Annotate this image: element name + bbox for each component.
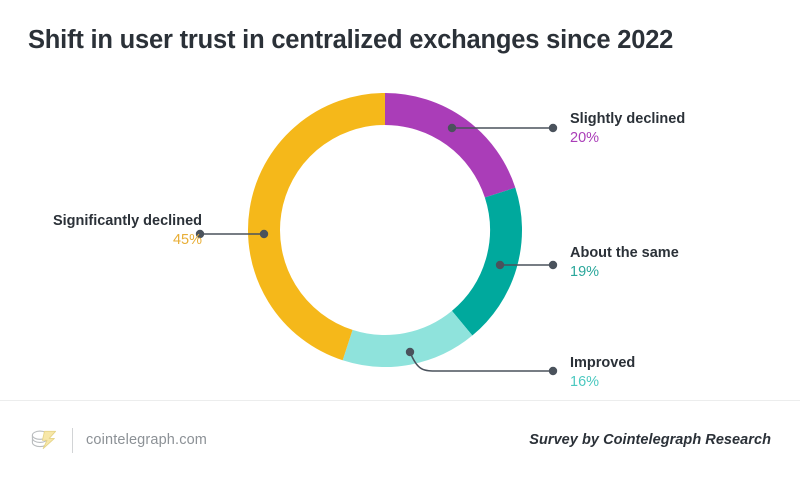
donut-slice-improved[interactable] (348, 323, 463, 351)
callout-significantly-declined: Significantly declined 45% (14, 212, 202, 249)
donut-slice-significantly-declined[interactable] (264, 109, 385, 345)
callout-about-the-same: About the same 19% (570, 244, 679, 281)
callout-value-significantly-declined: 45% (14, 231, 202, 250)
callout-label-slightly-declined: Slightly declined (570, 110, 685, 129)
donut-slice-about-the-same[interactable] (462, 193, 506, 324)
callout-label-significantly-declined: Significantly declined (14, 212, 202, 231)
footer: cointelegraph.com Survey by Cointelegrap… (0, 401, 800, 479)
footer-credit-label: Survey by Cointelegraph Research (529, 432, 771, 448)
callout-value-improved: 16% (570, 373, 635, 392)
footer-divider (72, 428, 73, 453)
cointelegraph-logo-icon (29, 427, 59, 453)
leader-dot-slice-about-the-same (496, 261, 504, 269)
callout-slightly-declined: Slightly declined 20% (570, 110, 685, 147)
leader-dot-slice-slightly-declined (448, 124, 456, 132)
leader-dot-label-improved (549, 367, 557, 375)
donut-slice-slightly-declined[interactable] (385, 109, 500, 193)
donut-segments (264, 109, 506, 351)
footer-site-label: cointelegraph.com (86, 432, 207, 448)
callout-label-improved: Improved (570, 354, 635, 373)
leader-dot-label-about-the-same (549, 261, 557, 269)
callout-label-about-the-same: About the same (570, 244, 679, 263)
callout-value-slightly-declined: 20% (570, 129, 685, 148)
infographic-canvas: Shift in user trust in centralized excha… (0, 0, 800, 479)
leader-dot-slice-improved (406, 348, 414, 356)
leader-dot-label-slightly-declined (549, 124, 557, 132)
callout-improved: Improved 16% (570, 354, 635, 391)
leader-dot-slice-significantly-declined (260, 230, 268, 238)
footer-brand: cointelegraph.com (29, 427, 207, 453)
callout-value-about-the-same: 19% (570, 263, 679, 282)
